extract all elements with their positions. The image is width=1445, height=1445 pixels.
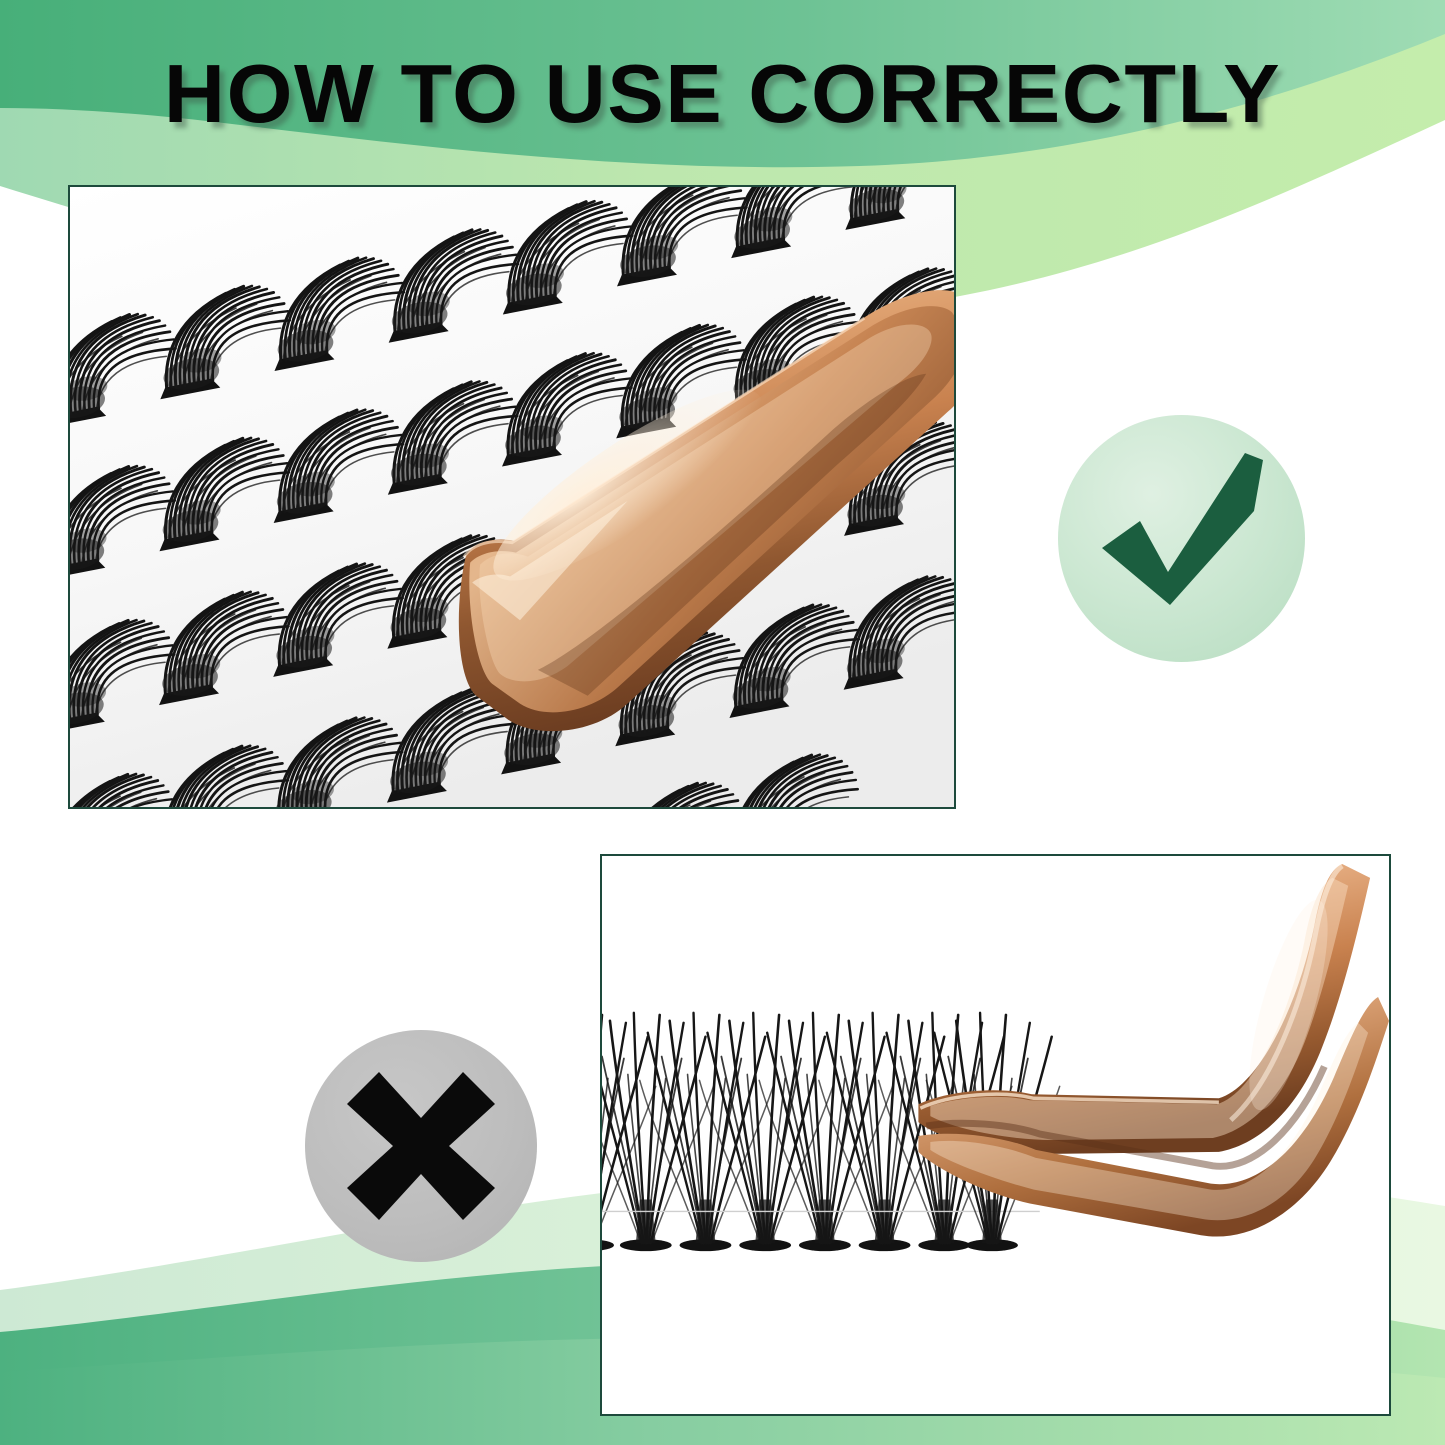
cross-icon <box>305 1030 537 1262</box>
incorrect-badge <box>305 1030 537 1262</box>
correct-badge <box>1058 415 1305 662</box>
check-icon <box>1058 415 1305 662</box>
page-title: HOW TO USE CORRECTLY <box>0 52 1445 135</box>
infographic-page: HOW TO USE CORRECTLY <box>0 0 1445 1445</box>
lash-tray-with-tweezer-illustration <box>70 187 954 807</box>
incorrect-usage-photo <box>600 854 1391 1416</box>
correct-usage-photo <box>68 185 956 809</box>
lash-row-with-tweezer-illustration <box>602 856 1389 1414</box>
